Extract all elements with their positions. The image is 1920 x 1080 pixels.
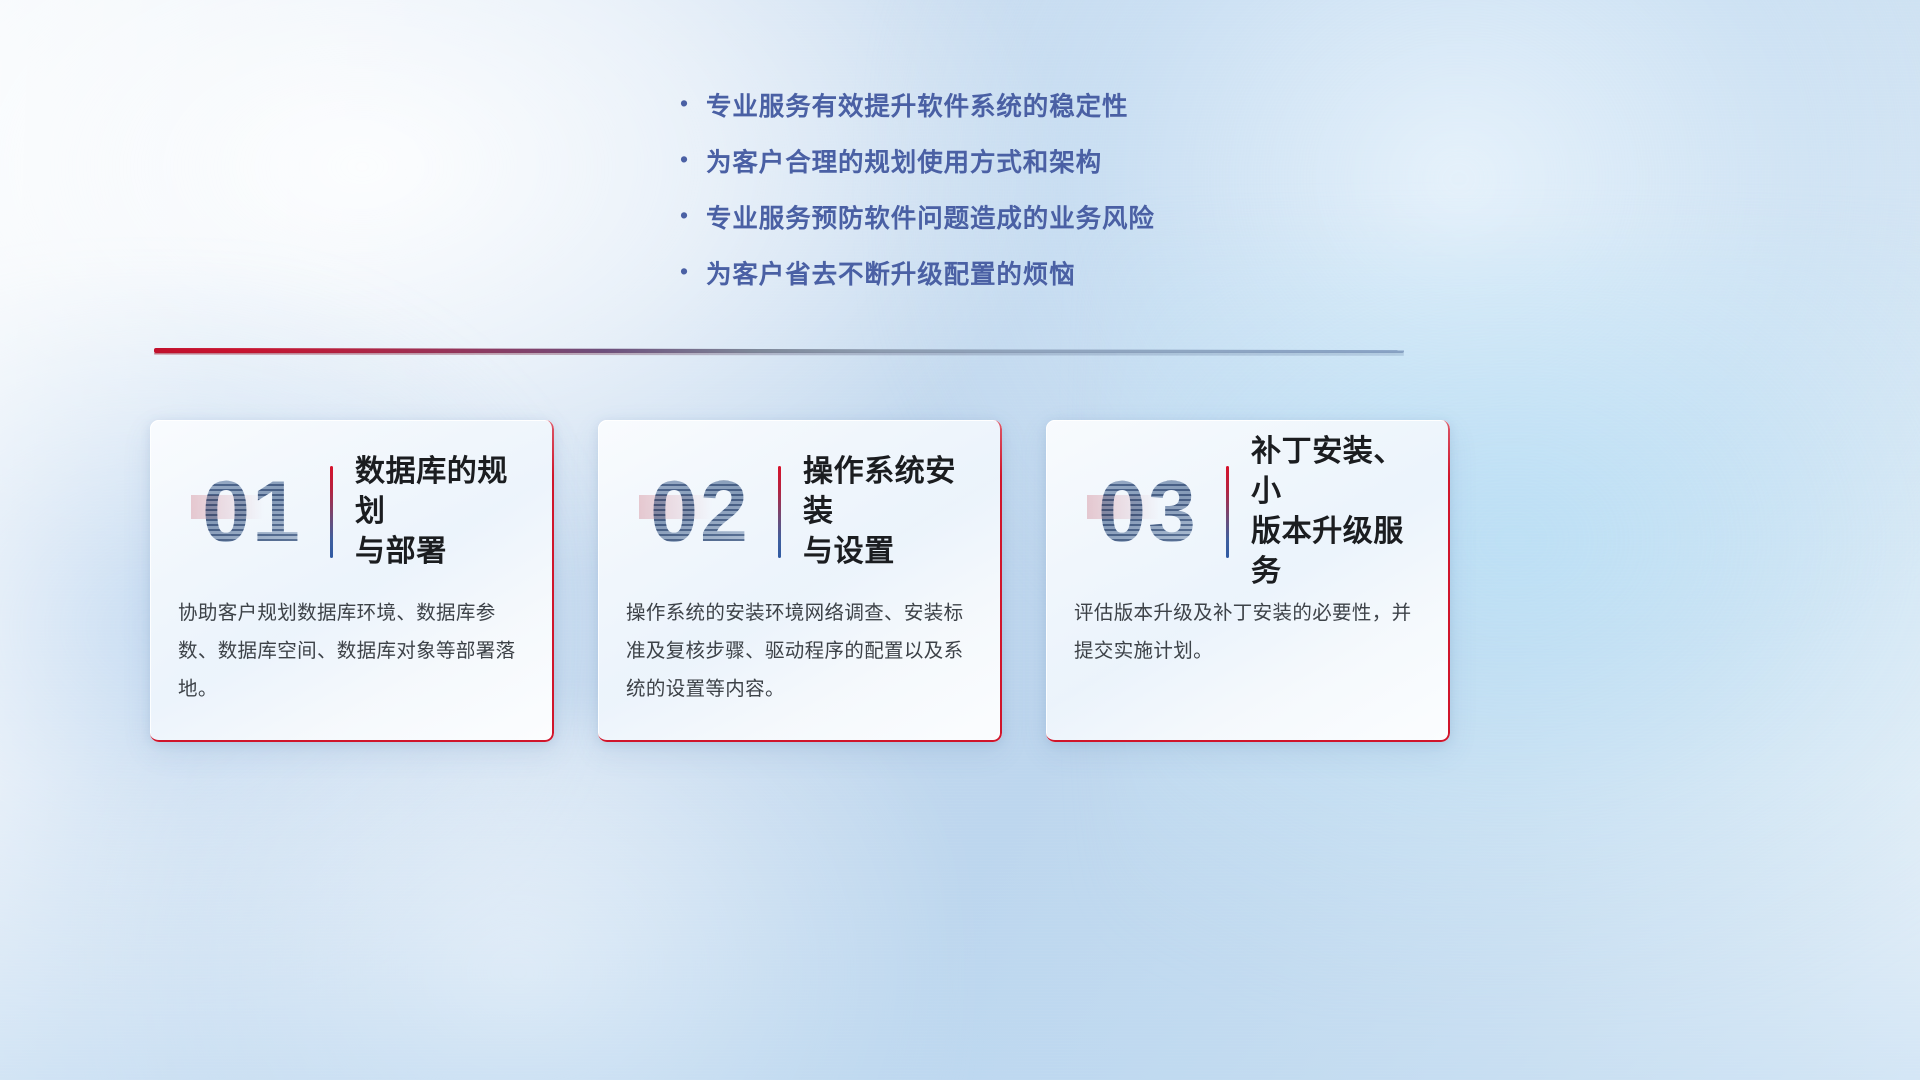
card-description: 评估版本升级及补丁安装的必要性，并提交实施计划。: [1046, 594, 1450, 670]
benefits-bullet-list: • 专业服务有效提升软件系统的稳定性 • 为客户合理的规划使用方式和架构 • 专…: [0, 86, 1920, 310]
service-card[interactable]: 02 操作系统安装 与设置 操作系统的安装环境网络调查、安装标准及复核步骤、驱动…: [598, 420, 1002, 742]
card-divider-bar: [330, 466, 333, 558]
card-number-text: 01: [202, 469, 302, 555]
bullet-item-label: 专业服务预防软件问题造成的业务风险: [706, 198, 1155, 235]
bullet-dot-icon: •: [680, 260, 706, 283]
bullet-dot-icon: •: [680, 148, 706, 171]
service-card[interactable]: 03 补丁安装、小 版本升级服务 评估版本升级及补丁安装的必要性，并提交实施计划…: [1046, 420, 1450, 742]
bullet-item: • 为客户省去不断升级配置的烦恼: [680, 254, 1240, 291]
bullet-item-label: 专业服务有效提升软件系统的稳定性: [706, 86, 1128, 123]
card-title: 数据库的规划 与部署: [355, 452, 528, 573]
section-divider: [154, 348, 1404, 364]
bullet-item-label: 为客户合理的规划使用方式和架构: [706, 142, 1102, 179]
service-card-list: 01 数据库的规划 与部署 协助客户规划数据库环境、数据库参数、数据库空间、数据…: [150, 420, 1450, 742]
card-number-text: 02: [650, 469, 750, 555]
card-divider-bar: [778, 466, 781, 558]
card-header: 02 操作系统安装 与设置: [598, 420, 1002, 570]
card-number-badge: 01: [176, 469, 328, 555]
card-number-text: 03: [1098, 469, 1198, 555]
card-divider-bar: [1226, 466, 1229, 558]
bullet-item-label: 为客户省去不断升级配置的烦恼: [706, 254, 1076, 291]
bullet-dot-icon: •: [680, 204, 706, 227]
bullet-item: • 为客户合理的规划使用方式和架构: [680, 142, 1240, 179]
service-card[interactable]: 01 数据库的规划 与部署 协助客户规划数据库环境、数据库参数、数据库空间、数据…: [150, 420, 554, 742]
card-description: 协助客户规划数据库环境、数据库参数、数据库空间、数据库对象等部署落地。: [150, 594, 554, 708]
bullet-item: • 专业服务预防软件问题造成的业务风险: [680, 198, 1240, 235]
bullet-dot-icon: •: [680, 92, 706, 115]
card-description: 操作系统的安装环境网络调查、安装标准及复核步骤、驱动程序的配置以及系统的设置等内…: [598, 594, 1002, 708]
card-number-badge: 03: [1072, 469, 1224, 555]
card-title: 补丁安装、小 版本升级服务: [1251, 432, 1424, 593]
card-number-badge: 02: [624, 469, 776, 555]
card-header: 01 数据库的规划 与部署: [150, 420, 554, 570]
card-header: 03 补丁安装、小 版本升级服务: [1046, 420, 1450, 570]
bullet-item: • 专业服务有效提升软件系统的稳定性: [680, 86, 1240, 123]
card-title: 操作系统安装 与设置: [803, 452, 976, 573]
